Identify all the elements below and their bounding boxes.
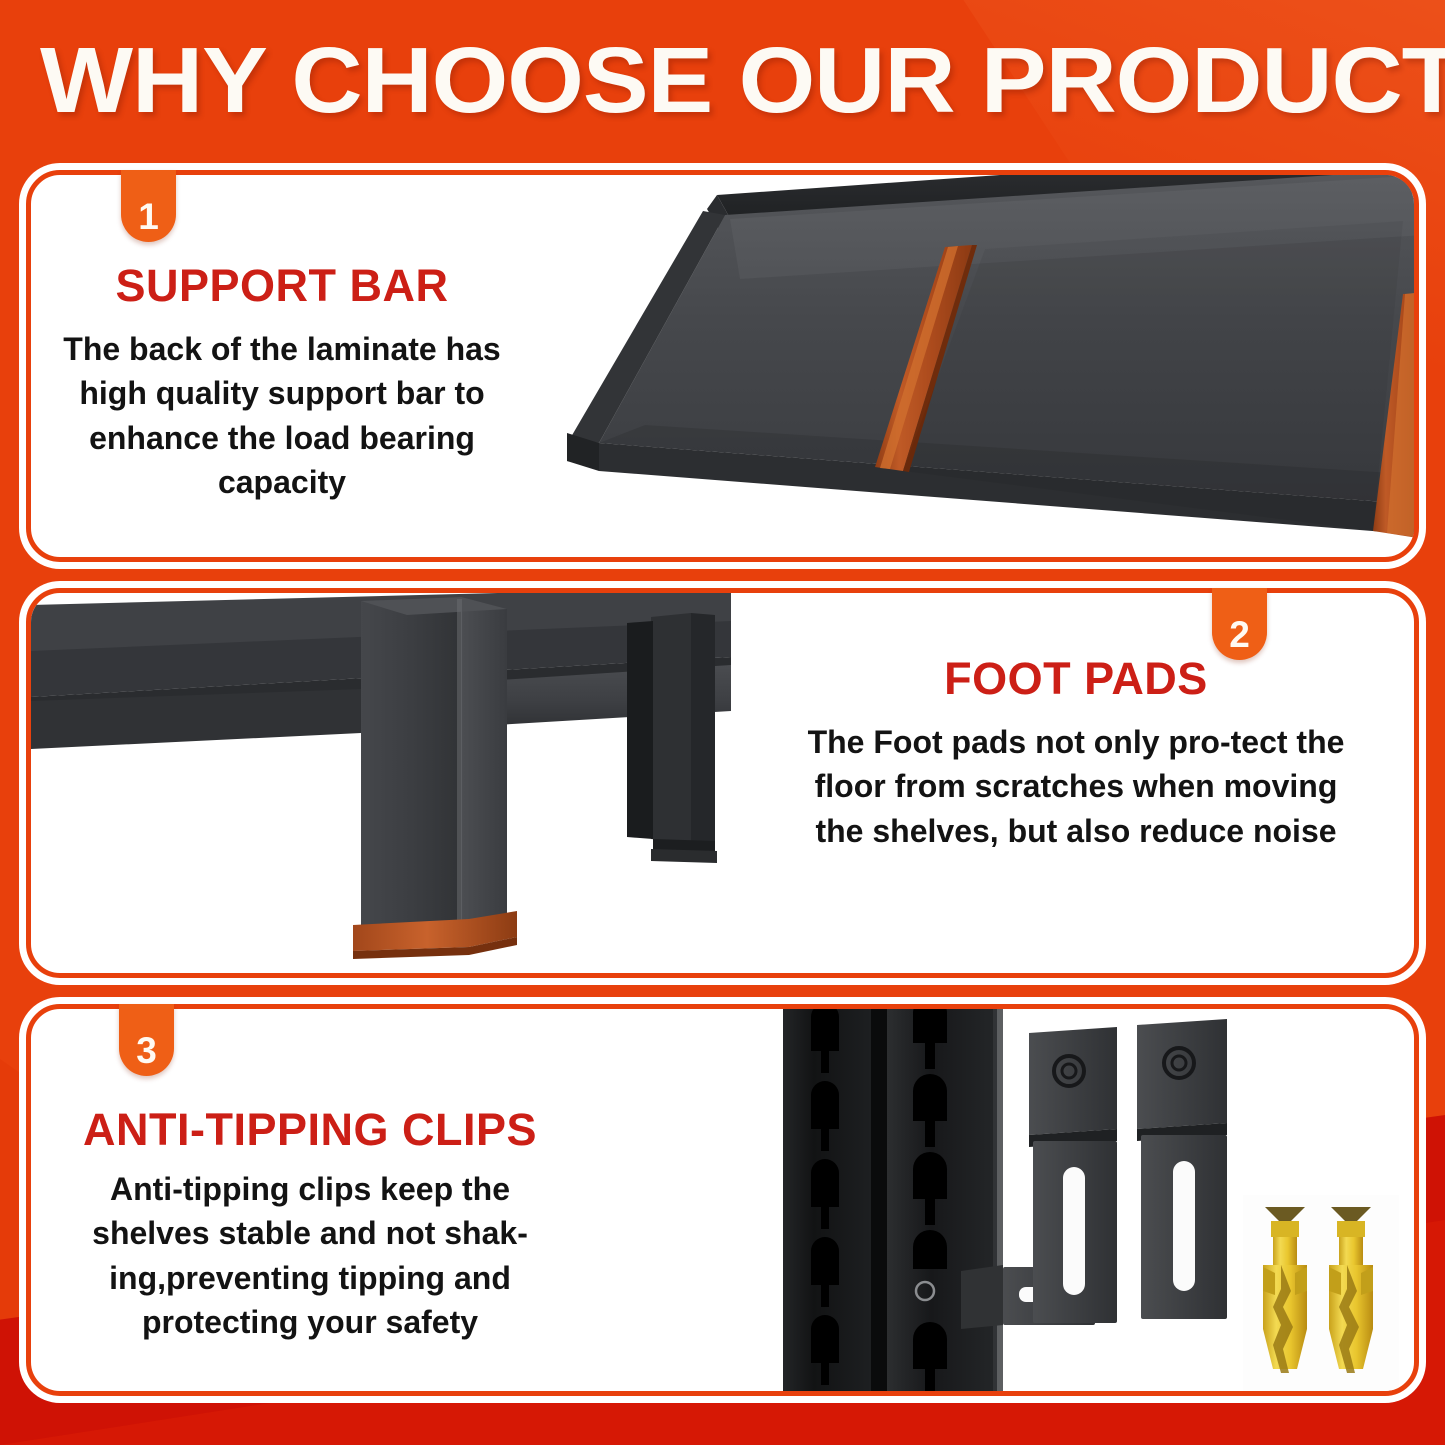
panel-3-heading: ANTI-TIPPING CLIPS — [50, 1106, 570, 1153]
panel-3-body: Anti-tipping clips keep the shelves stab… — [50, 1167, 570, 1344]
panel-1-body: The back of the laminate has high qualit… — [52, 327, 512, 504]
anti-tipping-svg — [765, 1009, 1419, 1396]
panel-2-text-block: FOOT PADS The Foot pads not only pro-tec… — [806, 655, 1346, 853]
clip-left — [1029, 1027, 1117, 1323]
panel-2-heading: FOOT PADS — [806, 655, 1346, 702]
clip-right — [1137, 1019, 1227, 1319]
panel-1-heading: SUPPORT BAR — [52, 262, 512, 309]
panel-2-body: The Foot pads not only pro-tect the floo… — [806, 720, 1346, 852]
panel-1-text-block: SUPPORT BAR The back of the laminate has… — [52, 262, 512, 504]
shelf-laminate-illustration — [525, 175, 1419, 562]
panel-number-badge-3: 3 — [119, 1004, 174, 1076]
header-banner: WHY CHOOSE OUR PRODUCT — [0, 0, 1445, 160]
shelf-legs-svg — [31, 593, 771, 978]
anti-tipping-hardware-illustration — [765, 1009, 1419, 1396]
panel-3-text-block: ANTI-TIPPING CLIPS Anti-tipping clips ke… — [50, 1106, 570, 1344]
shelf-legs-illustration — [31, 593, 771, 978]
shelf-laminate-svg — [525, 175, 1419, 562]
panel-number-badge-2: 2 — [1212, 588, 1267, 660]
page-title: WHY CHOOSE OUR PRODUCT — [40, 34, 1445, 127]
panel-number-badge-1: 1 — [121, 170, 176, 242]
